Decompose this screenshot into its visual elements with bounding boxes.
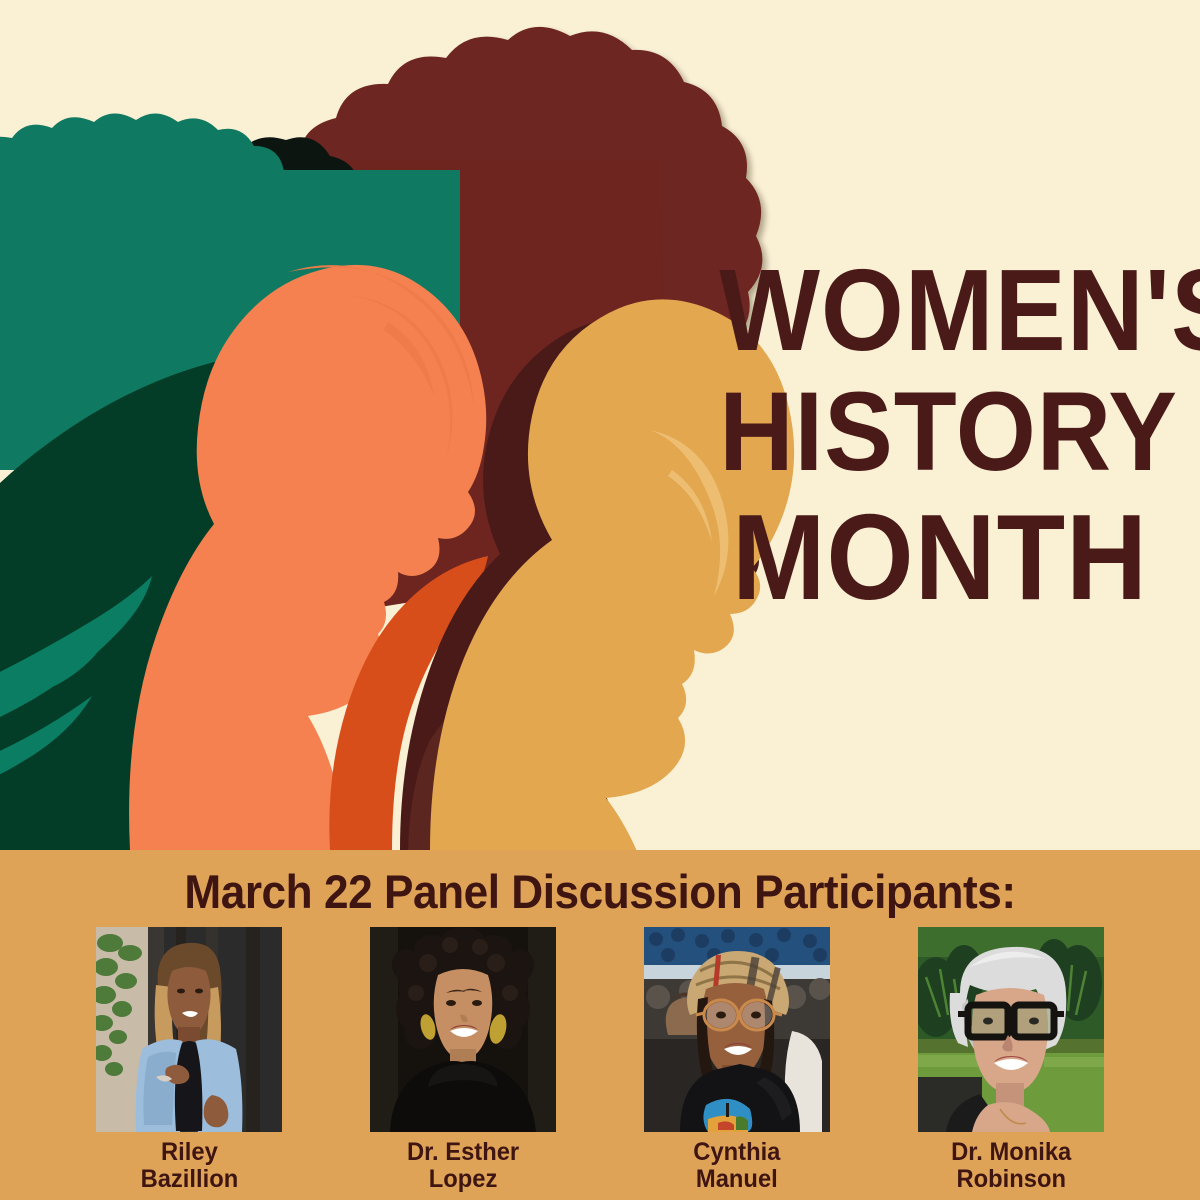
participant-photo-dr-monika-robinson: [918, 927, 1104, 1132]
participant-name: Riley Bazillion: [140, 1139, 238, 1193]
participant-photo-riley-bazillion: [96, 927, 282, 1132]
participant-name: Cynthia Manuel: [693, 1139, 780, 1193]
participant-dr-monika-robinson[interactable]: Dr. Monika Robinson: [916, 927, 1106, 1193]
participant-photo-cynthia-manuel: [644, 927, 830, 1132]
participant-photo-dr-esther-lopez: [370, 927, 556, 1132]
participant-cynthia-manuel[interactable]: Cynthia Manuel: [642, 927, 832, 1193]
silhouette-artwork: [0, 0, 1200, 850]
glasses: [958, 1005, 1064, 1037]
participants-list: Riley Bazillion: [0, 927, 1200, 1197]
participant-name: Dr. Esther Lopez: [407, 1139, 519, 1193]
participant-name: Dr. Monika Robinson: [951, 1139, 1071, 1193]
participant-riley-bazillion[interactable]: Riley Bazillion: [94, 927, 284, 1193]
womens-history-month-poster: WOMEN'S HISTORY MONTH March 22 Panel Dis…: [0, 0, 1200, 1200]
participants-banner: March 22 Panel Discussion Participants:: [0, 850, 1200, 1200]
banner-heading: March 22 Panel Discussion Participants:: [36, 864, 1164, 919]
participant-dr-esther-lopez[interactable]: Dr. Esther Lopez: [368, 927, 558, 1193]
